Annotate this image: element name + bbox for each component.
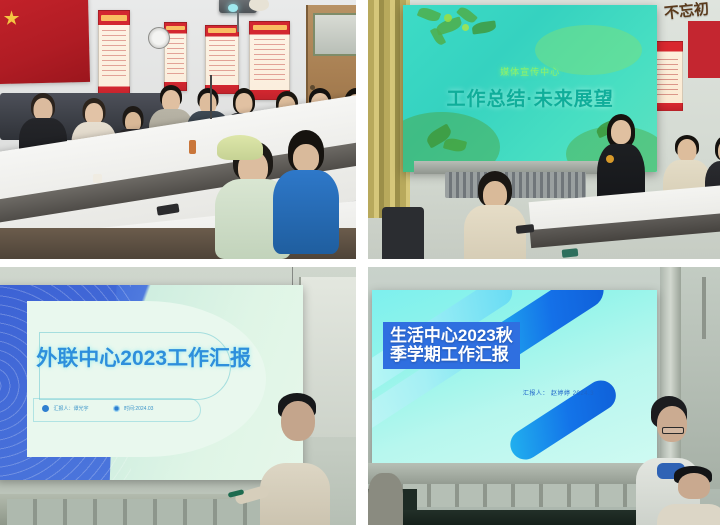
presenter-torso [260,463,330,525]
projection-screen-frame: 外联中心2023工作汇报 汇报人：谭光宇 时间:2024.03 [0,285,303,480]
poster-text-lines [209,40,235,79]
person-figure-edge [368,473,403,525]
slide-title-line-1: 生活中心2023秋 [390,326,513,345]
head [677,139,696,162]
projector-mount [237,10,239,32]
gear-icon [113,405,120,412]
head [611,120,631,144]
poster-text-lines [102,30,126,80]
green-object-on-table [561,248,578,258]
glasses-icon [662,427,684,434]
person-figure-head [678,473,710,499]
wall-clock-icon [148,27,170,49]
wall-pillar [660,267,681,484]
poster-text-lines [254,39,285,84]
projection-screen-frame: 生活中心2023秋 季学期工作汇报 汇报人： 赵婷婷 2024.3 [372,290,658,464]
photo-bottom-left[interactable]: 外联中心2023工作汇报 汇报人：谭光宇 时间:2024.03 [0,267,356,525]
slide-date-meta: 时间:2024.03 [113,405,153,412]
torso [273,170,339,254]
poster-header [208,28,236,33]
beanie-hat [217,135,263,160]
projected-slide-cyan: 生活中心2023秋 季学期工作汇报 汇报人： 赵婷婷 2024.3 [372,290,658,464]
cup-on-table [93,174,102,183]
door-window [313,13,356,56]
poster-text-lines [167,38,184,77]
red-party-banner [0,0,90,84]
date-label: 时间:2024.03 [124,405,153,412]
red-wall-panel [688,21,720,78]
projected-slide-blue: 外联中心2023工作汇报 汇报人：谭光宇 时间:2024.03 [0,285,303,480]
slide-title-box: 生活中心2023秋 季学期工作汇报 [383,322,520,369]
leaf-icon [471,20,496,34]
slide-org-label: 媒体宣传中心 [403,65,657,78]
berry-icon [444,14,452,22]
person-figure-foreground [460,171,530,259]
office-chair [382,207,424,259]
slide-meta: 汇报人： 赵婷婷 2024.3 [523,388,594,397]
person-figure-foreground [271,130,342,260]
right-wall [681,267,720,489]
window-panes [7,499,292,525]
poster-header [253,25,287,30]
presenter-label: 汇报人：谭光宇 [53,405,88,412]
leaf-icon [417,5,442,23]
presenter-head [281,401,315,441]
photo-bottom-right[interactable]: 生活中心2023秋 季学期工作汇报 汇报人： 赵婷婷 2024.3 [368,267,720,525]
person-figure-torso [657,504,720,525]
window-sill [368,463,660,484]
mic-stand [210,75,212,119]
slide-title-line-2: 季学期工作汇报 [390,345,513,364]
photo-top-right[interactable]: 不忘初 媒体宣传中心 工作总结·未来展望 [368,0,720,259]
poster-header [166,26,185,31]
wall-poster [98,10,130,97]
bottle-on-table [189,140,196,154]
slide-presenter-meta: 汇报人：谭光宇 [42,405,88,412]
poster-header [101,15,128,21]
presenter-head [657,406,687,442]
wall-pipe [702,277,706,339]
photo-top-left[interactable] [0,0,356,259]
person-icon [42,405,49,412]
presenter-badge [606,155,614,163]
slide-title: 工作总结·未来展望 [403,84,657,111]
photo-collage: 不忘初 媒体宣传中心 工作总结·未来展望 [0,0,720,525]
berry-icon [462,24,469,31]
slide-title: 外联中心2023工作汇报 [36,342,251,372]
head [293,144,319,172]
